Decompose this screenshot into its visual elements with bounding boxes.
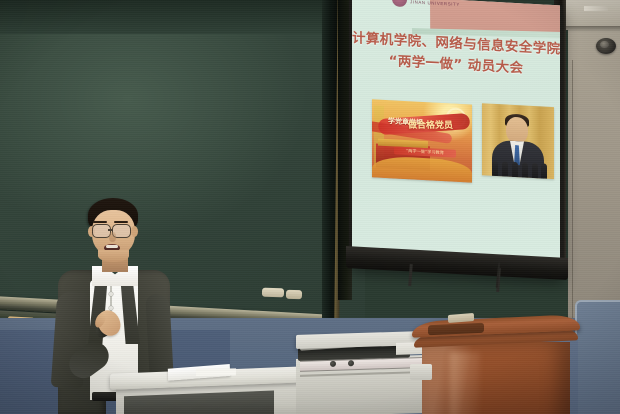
glasses-icon-bridge [108,229,113,231]
wall-seam [572,60,573,325]
podium-highlight [450,352,480,414]
papers-on-lectern-secondary [196,368,236,376]
wall-access-panel [575,300,620,414]
desk-object-a [262,288,284,298]
poster-wave [372,155,472,182]
slide-poster-image: 学党章党规 做合格党员 “两学一做”学习教育 [372,99,472,182]
poster-calligraphy: 做合格党员 [408,121,472,132]
lecture-hall-photo: 暨南大学 JINAN UNIVERSITY 计算机学院、网络与信息安全学院党员 … [0,0,620,414]
university-logo: 暨南大学 JINAN UNIVERSITY [392,0,470,15]
slide-speaker-photo [482,103,554,179]
photo-microphones [490,160,548,179]
presentation-slide: 暨南大学 JINAN UNIVERSITY 计算机学院、网络与信息安全学院党员 … [352,0,560,263]
presenter-chin [98,250,129,262]
photo-speaker-head [506,117,528,144]
podium-side-drawer[interactable] [410,364,432,380]
screen-support-left [408,264,413,286]
projection-surface: 暨南大学 JINAN UNIVERSITY 计算机学院、网络与信息安全学院党员 … [352,0,560,263]
presenter-shirt-button-1 [109,292,113,296]
podium-front-face [422,342,570,414]
presenter-teeth [106,245,118,248]
front-lectern [110,366,306,414]
presenter-ear-right [131,226,138,237]
ceiling-label [584,6,608,11]
university-name-en: JINAN UNIVERSITY [410,0,460,7]
ceiling-speaker-icon [596,38,616,54]
ceiling-shadow [566,26,620,32]
presenter-nose [109,232,116,242]
university-logo-mark [392,0,407,7]
wooden-podium [412,318,580,414]
projection-screen: 暨南大学 JINAN UNIVERSITY 计算机学院、网络与信息安全学院党员 … [349,0,563,278]
chalkboard-top-shadow [0,0,365,34]
desk-object-b [286,290,302,300]
